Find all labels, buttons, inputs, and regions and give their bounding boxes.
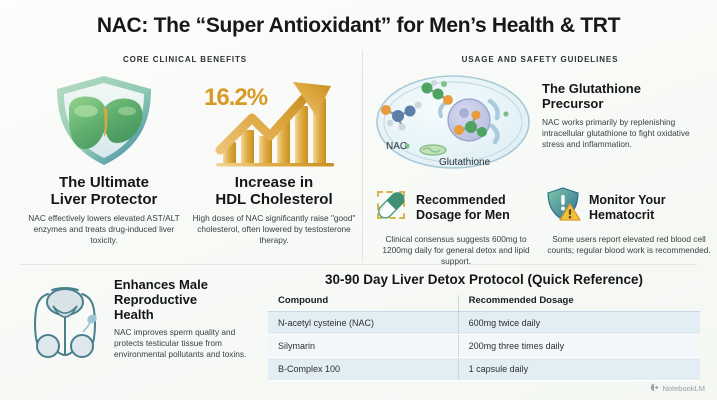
benefit-hdl-title-line1: Increase in [235,174,313,191]
infographic-page: NAC: The “Super Antioxidant” for Men’s H… [0,0,717,400]
table-column-header-compound: Compound [268,295,458,312]
hdl-stat-value: 16.2% [204,84,267,112]
usage-card-dosage: Recommended Dosage for Men Clinical cons… [372,186,540,267]
benefit-liver-body: NAC effectively lowers elevated AST/ALT … [18,213,190,246]
benefit-card-hdl: 16.2% Increase in HDL Cholesterol High d… [190,72,358,246]
benefit-repro-title: Enhances Male Reproductive Health [114,278,258,322]
usage-dosage-title-line2: Dosage for Men [416,208,510,222]
protocol-table: Compound Recommended Dosage N-acetyl cys… [268,295,700,381]
benefit-hdl-title-line2: HDL Cholesterol [215,191,332,208]
benefit-repro-title-line1: Enhances Male [114,277,208,292]
usage-hematocrit-title-line1: Monitor Your [589,193,666,207]
table-row: Silymarin 200mg three times daily [268,335,700,358]
usage-hematocrit-header: Monitor Your Hematocrit [545,186,713,229]
liver-shield-icon [18,72,190,170]
benefit-card-reproductive: Enhances Male Reproductive Health NAC im… [22,276,258,377]
benefit-liver-title-line1: The Ultimate [59,174,149,191]
usage-card-glutathione: NAC Glutathione The Glutathione Precurso… [372,70,702,179]
usage-dosage-title-line1: Recommended [416,193,506,207]
benefit-repro-title-line3: Health [114,307,154,322]
table-row: B-Complex 100 1 capsule daily [268,358,700,381]
page-title: NAC: The “Super Antioxidant” for Men’s H… [0,14,717,38]
table-cell-dosage: 1 capsule daily [458,358,700,381]
notebooklm-icon [650,383,659,394]
usage-hematocrit-body: Some users report elevated red blood cel… [545,234,713,256]
vertical-divider [362,50,363,262]
usage-hematocrit-title: Monitor Your Hematocrit [589,193,666,222]
capsule-pill-icon [372,186,410,229]
protocol-table-section: 30-90 Day Liver Detox Protocol (Quick Re… [268,272,700,381]
benefit-hdl-title: Increase in HDL Cholesterol [190,174,358,208]
benefit-card-liver: The Ultimate Liver Protector NAC effecti… [18,72,190,246]
footer-brand: NotebookLM [650,383,705,394]
table-cell-compound: N-acetyl cysteine (NAC) [268,312,458,335]
footer-brand-label: NotebookLM [662,384,705,393]
usage-card-hematocrit: Monitor Your Hematocrit Some users repor… [545,186,713,256]
male-reproductive-icon [22,276,108,377]
benefit-hdl-body: High doses of NAC significantly raise "g… [190,213,358,246]
section-header-core-benefits: CORE CLINICAL BENEFITS [20,55,350,64]
usage-glutathione-title-line2: Precursor [542,96,603,111]
benefit-repro-body: NAC improves sperm quality and protects … [114,327,258,360]
protocol-title: 30-90 Day Liver Detox Protocol (Quick Re… [268,272,700,287]
table-column-header-dosage: Recommended Dosage [458,295,700,312]
table-cell-compound: Silymarin [268,335,458,358]
table-cell-compound: B-Complex 100 [268,358,458,381]
usage-dosage-title: Recommended Dosage for Men [416,193,510,222]
cell-diagram-icon: NAC Glutathione [372,70,534,179]
usage-glutathione-title-line1: The Glutathione [542,81,641,96]
shield-warning-icon [545,186,583,229]
usage-dosage-body: Clinical consensus suggests 600mg to 120… [372,234,540,267]
usage-glutathione-body: NAC works primarily by replenishing intr… [542,117,702,150]
cell-label-nac: NAC [386,141,407,152]
section-header-usage-guidelines: USAGE AND SAFETY GUIDELINES [370,55,710,64]
usage-hematocrit-title-line2: Hematocrit [589,208,654,222]
growth-chart-icon: 16.2% [190,72,358,170]
benefit-repro-title-line2: Reproductive [114,292,197,307]
benefit-liver-title: The Ultimate Liver Protector [18,174,190,208]
table-cell-dosage: 200mg three times daily [458,335,700,358]
usage-dosage-header: Recommended Dosage for Men [372,186,540,229]
horizontal-divider [20,264,697,265]
table-header-row: Compound Recommended Dosage [268,295,700,312]
table-row: N-acetyl cysteine (NAC) 600mg twice dail… [268,312,700,335]
usage-glutathione-title: The Glutathione Precursor [542,82,702,112]
cell-label-glutathione: Glutathione [439,157,491,168]
benefit-liver-title-line2: Liver Protector [51,191,158,208]
table-cell-dosage: 600mg twice daily [458,312,700,335]
